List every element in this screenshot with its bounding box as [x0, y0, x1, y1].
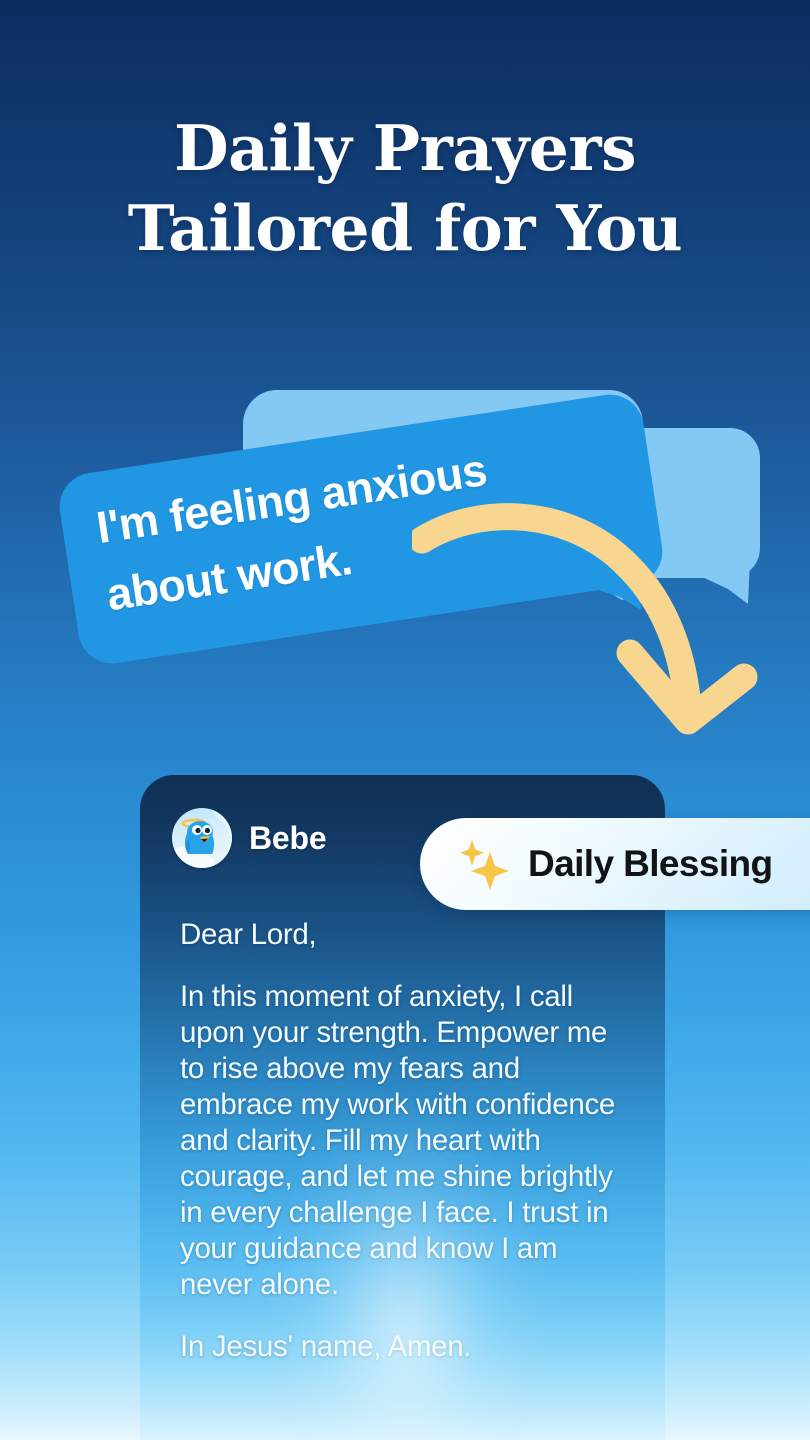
prayer-paragraph-salutation: Dear Lord,	[180, 917, 635, 953]
app-store-promo-screen: Daily Prayers Tailored for You I'm feeli…	[0, 0, 810, 1440]
bebe-bird-avatar	[172, 808, 232, 868]
prayer-paragraph-closing: In Jesus' name, Amen.	[180, 1329, 635, 1365]
prayer-author-name: Bebe	[249, 820, 326, 857]
sparkles-icon	[454, 834, 518, 894]
prayer-card-header: Bebe	[172, 808, 326, 868]
curved-arrow-icon	[412, 495, 772, 760]
daily-blessing-badge[interactable]: Daily Blessing	[420, 818, 810, 910]
prayer-paragraph-body: In this moment of anxiety, I call upon y…	[180, 979, 635, 1303]
prayer-text-body: Dear Lord, In this moment of anxiety, I …	[180, 917, 635, 1365]
daily-blessing-label: Daily Blessing	[528, 843, 773, 885]
page-title: Daily Prayers Tailored for You	[0, 108, 810, 268]
